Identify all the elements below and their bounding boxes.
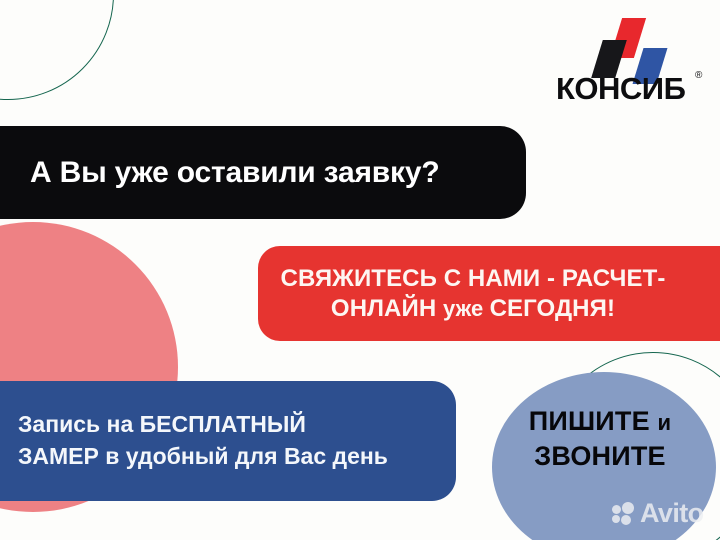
contact-line-2-part-1: ОНЛАЙН <box>331 295 443 322</box>
question-banner: А Вы уже оставили заявку? <box>0 126 526 219</box>
avito-logo-icon <box>612 502 638 526</box>
measurement-line-2: ЗАМЕР в удобный для Вас день <box>18 443 388 469</box>
brand-logo: КОНСИБ ® <box>556 18 708 112</box>
advertisement-canvas: КОНСИБ ® А Вы уже оставили заявку? СВЯЖИ… <box>0 0 720 540</box>
contact-line-1: СВЯЖИТЕСЬ С НАМИ - РАСЧЕТ- <box>281 265 666 292</box>
avito-watermark: Avito <box>612 500 704 527</box>
brand-name: КОНСИБ <box>556 73 708 104</box>
contact-banner-text: СВЯЖИТЕСЬ С НАМИ - РАСЧЕТ- ОНЛАЙН уже СЕ… <box>280 264 666 323</box>
measurement-line-1: Запись на БЕСПЛАТНЫЙ <box>18 411 306 437</box>
contact-banner: СВЯЖИТЕСЬ С НАМИ - РАСЧЕТ- ОНЛАЙН уже СЕ… <box>258 246 720 341</box>
callout-line-1-part-2: и <box>658 410 672 435</box>
logo-mark-group <box>556 18 708 70</box>
free-measurement-banner-text: Запись на БЕСПЛАТНЫЙ ЗАМЕР в удобный для… <box>18 409 438 472</box>
contact-line-2-part-2: уже <box>443 296 490 321</box>
contact-line-2-part-3: СЕГОДНЯ! <box>490 295 615 322</box>
question-banner-text: А Вы уже оставили заявку? <box>30 156 504 189</box>
free-measurement-banner: Запись на БЕСПЛАТНЫЙ ЗАМЕР в удобный для… <box>0 381 456 501</box>
green-ring-decoration-top-left <box>0 0 114 100</box>
avito-watermark-text: Avito <box>640 500 704 527</box>
callout-line-2: ЗВОНИТЕ <box>534 441 666 471</box>
callout-line-1-part-1: ПИШИТЕ <box>529 406 658 436</box>
write-and-call-text: ПИШИТЕ и ЗВОНИТЕ <box>492 404 708 473</box>
registered-trademark-icon: ® <box>695 70 702 81</box>
